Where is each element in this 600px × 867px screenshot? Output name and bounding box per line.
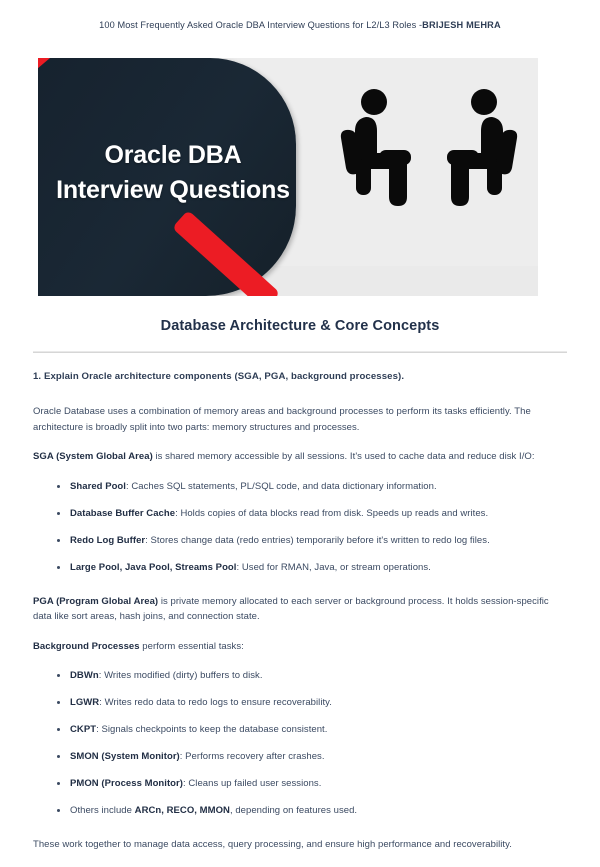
- list-item: LGWR: Writes redo data to redo logs to e…: [33, 695, 567, 710]
- sga-lead-paragraph: SGA (System Global Area) is shared memor…: [33, 449, 567, 465]
- list-item-term: SMON (System Monitor): [70, 751, 180, 762]
- pga-paragraph: PGA (Program Global Area) is private mem…: [33, 594, 567, 625]
- list-item-desc: : Cleans up failed user sessions.: [183, 778, 321, 789]
- background-processes-term: Background Processes: [33, 641, 140, 652]
- sga-lead-term: SGA (System Global Area): [33, 451, 153, 462]
- list-item-desc: : Stores change data (redo entries) temp…: [145, 535, 490, 546]
- list-item-term: Redo Log Buffer: [70, 535, 145, 546]
- page-header-title: 100 Most Frequently Asked Oracle DBA Int…: [99, 20, 422, 30]
- list-item-others: Others include ARCn, RECO, MMON, dependi…: [33, 803, 567, 818]
- list-item: Shared Pool: Caches SQL statements, PL/S…: [33, 479, 567, 494]
- list-item-desc: : Caches SQL statements, PL/SQL code, an…: [126, 481, 437, 492]
- list-item-desc: : Used for RMAN, Java, or stream operati…: [236, 562, 430, 573]
- list-item: SMON (System Monitor): Performs recovery…: [33, 749, 567, 764]
- list-item: Large Pool, Java Pool, Streams Pool: Use…: [33, 560, 567, 575]
- list-item-term: Shared Pool: [70, 481, 126, 492]
- cover-banner-image: Oracle DBA Interview Questions: [38, 58, 538, 296]
- list-item-term: DBWn: [70, 670, 99, 681]
- others-prefix: Others include: [70, 805, 135, 816]
- list-item-term: Database Buffer Cache: [70, 508, 175, 519]
- list-item-desc: : Holds copies of data blocks read from …: [175, 508, 488, 519]
- list-item-term: CKPT: [70, 724, 96, 735]
- banner-title-line-1: Oracle DBA: [48, 138, 298, 173]
- list-item-desc: : Writes modified (dirty) buffers to dis…: [99, 670, 263, 681]
- two-people-seated-interview-icon: [334, 86, 524, 226]
- list-item-desc: : Writes redo data to redo logs to ensur…: [99, 697, 332, 708]
- background-processes-rest: perform essential tasks:: [140, 641, 244, 652]
- banner-title: Oracle DBA Interview Questions: [48, 138, 298, 208]
- sga-component-list: Shared Pool: Caches SQL statements, PL/S…: [33, 479, 567, 575]
- others-term: ARCn, RECO, MMON: [135, 805, 230, 816]
- background-process-list: DBWn: Writes modified (dirty) buffers to…: [33, 668, 567, 818]
- list-item-desc: : Signals checkpoints to keep the databa…: [96, 724, 327, 735]
- list-item: Redo Log Buffer: Stores change data (red…: [33, 533, 567, 548]
- list-item: CKPT: Signals checkpoints to keep the da…: [33, 722, 567, 737]
- section-heading: Database Architecture & Core Concepts: [33, 318, 567, 334]
- banner-title-line-2: Interview Questions: [48, 173, 298, 208]
- list-item-term: Large Pool, Java Pool, Streams Pool: [70, 562, 236, 573]
- page-header-author: BRIJESH MEHRA: [422, 20, 501, 30]
- list-item: PMON (Process Monitor): Cleans up failed…: [33, 776, 567, 791]
- list-item-term: LGWR: [70, 697, 99, 708]
- list-item: Database Buffer Cache: Holds copies of d…: [33, 506, 567, 521]
- section-divider: [33, 351, 567, 353]
- list-item: DBWn: Writes modified (dirty) buffers to…: [33, 668, 567, 683]
- pga-term: PGA (Program Global Area): [33, 596, 158, 607]
- intro-paragraph: Oracle Database uses a combination of me…: [33, 404, 567, 435]
- banner-red-corner-accent: [38, 58, 50, 80]
- others-suffix: , depending on features used.: [230, 805, 357, 816]
- closing-paragraph: These work together to manage data acces…: [33, 837, 567, 853]
- question-title: 1. Explain Oracle architecture component…: [33, 370, 567, 384]
- background-processes-lead: Background Processes perform essential t…: [33, 639, 567, 655]
- page-running-header: 100 Most Frequently Asked Oracle DBA Int…: [0, 19, 600, 31]
- list-item-term: PMON (Process Monitor): [70, 778, 183, 789]
- sga-lead-rest: is shared memory accessible by all sessi…: [153, 451, 535, 462]
- list-item-desc: : Performs recovery after crashes.: [180, 751, 325, 762]
- document-content: Database Architecture & Core Concepts 1.…: [33, 318, 567, 867]
